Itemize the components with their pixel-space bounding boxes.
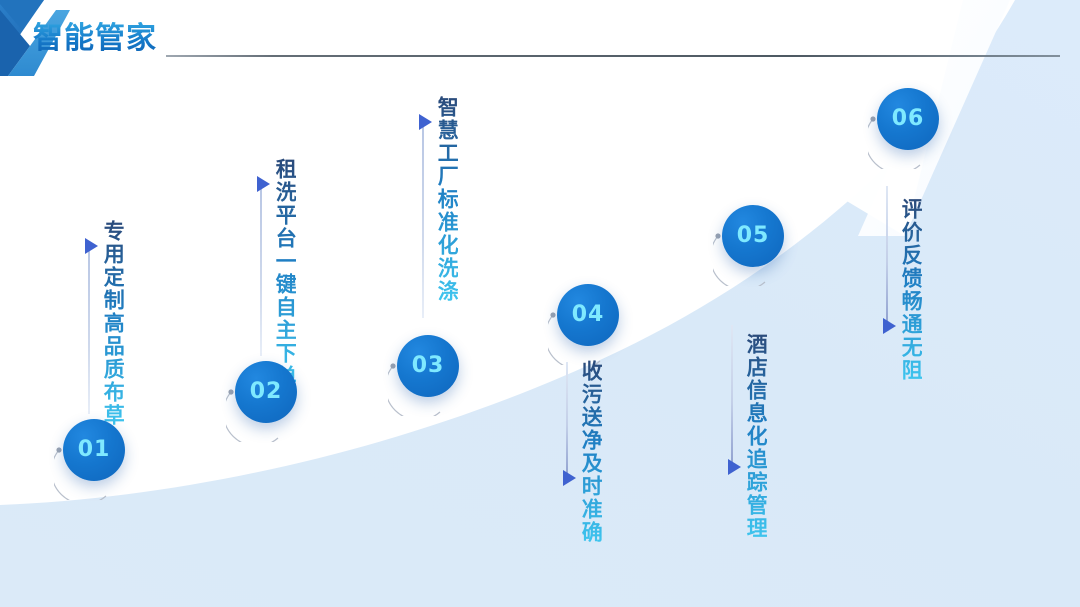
- connector-line: [566, 362, 568, 478]
- step-circle-03[interactable]: 03: [397, 335, 459, 397]
- connector-line: [731, 325, 733, 467]
- step-number-02: 02: [250, 381, 283, 403]
- triangle-right-icon: [728, 459, 741, 475]
- step-label-05: 酒店信息化追踪管理: [745, 333, 767, 540]
- step-circle-04[interactable]: 04: [557, 284, 619, 346]
- step-node-05[interactable]: 05 酒店信息化追踪管理: [713, 205, 843, 535]
- step-number-01: 01: [78, 439, 111, 461]
- step-label-03: 智慧工厂标准化洗涤: [436, 96, 458, 303]
- step-node-02[interactable]: 租洗平台一键自主下单 02: [226, 174, 356, 464]
- slide-canvas: 智能管家 专用定制高品质布草 01 租洗平台一键自主下单 02 智慧工厂标准化洗…: [0, 0, 1080, 607]
- step-node-06[interactable]: 06 评价反馈畅通无阻: [868, 88, 998, 418]
- connector-line: [260, 184, 262, 356]
- step-label-01: 专用定制高品质布草: [102, 220, 124, 427]
- slide-header: 智能管家: [0, 0, 1080, 80]
- step-number-06: 06: [892, 108, 925, 130]
- triangle-right-icon: [419, 114, 432, 130]
- connector-line: [88, 246, 90, 414]
- step-circle-05[interactable]: 05: [722, 205, 784, 267]
- triangle-right-icon: [883, 318, 896, 334]
- connector-line: [886, 186, 888, 326]
- step-circle-02[interactable]: 02: [235, 361, 297, 423]
- step-node-03[interactable]: 智慧工厂标准化洗涤 03: [388, 112, 518, 412]
- connector-line: [422, 122, 424, 318]
- triangle-right-icon: [85, 238, 98, 254]
- triangle-right-icon: [257, 176, 270, 192]
- step-label-06: 评价反馈畅通无阻: [900, 198, 922, 382]
- step-label-02: 租洗平台一键自主下单: [274, 158, 296, 388]
- step-circle-01[interactable]: 01: [63, 419, 125, 481]
- step-number-03: 03: [412, 355, 445, 377]
- header-divider: [166, 55, 1060, 57]
- step-node-04[interactable]: 04 收污送净及时准确: [548, 284, 678, 564]
- step-number-05: 05: [737, 225, 770, 247]
- step-label-04: 收污送净及时准确: [580, 360, 602, 544]
- page-title: 智能管家: [33, 22, 157, 56]
- step-circle-06[interactable]: 06: [877, 88, 939, 150]
- triangle-right-icon: [563, 470, 576, 486]
- step-node-01[interactable]: 专用定制高品质布草 01: [54, 236, 184, 506]
- step-number-04: 04: [572, 304, 605, 326]
